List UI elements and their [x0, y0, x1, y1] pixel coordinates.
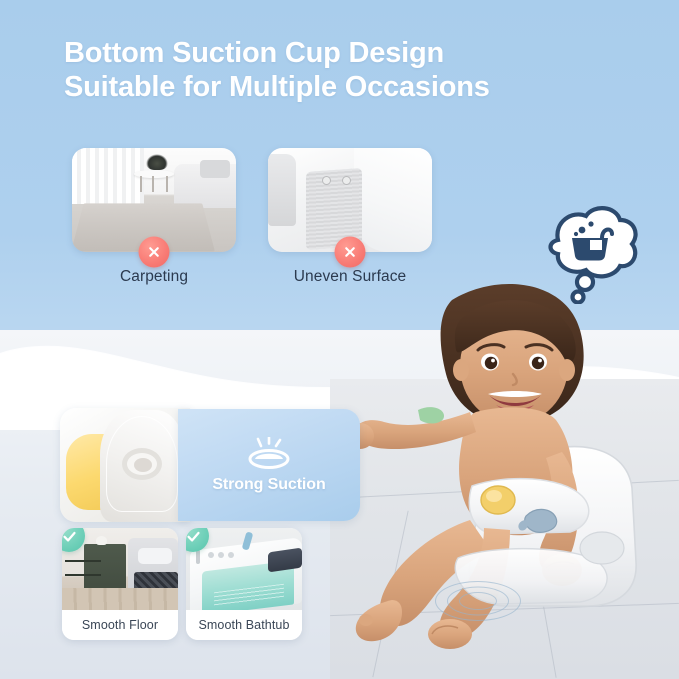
suction-ripple-rings: [430, 578, 526, 624]
smooth-floor-footer: Smooth Floor: [62, 610, 178, 640]
page-title: Bottom Suction Cup Design Suitable for M…: [64, 36, 644, 104]
suction-cup-closeup-photo: [60, 408, 190, 522]
negative-card-uneven-surface[interactable]: Uneven Surface: [268, 148, 432, 252]
positive-card-label: Smooth Floor: [82, 618, 158, 632]
infographic-canvas: Bottom Suction Cup Design Suitable for M…: [0, 0, 679, 679]
title-line-1: Bottom Suction Cup Design: [64, 36, 644, 70]
positive-card-smooth-bathtub[interactable]: Smooth Bathtub: [186, 528, 302, 640]
smooth-bathtub-footer: Smooth Bathtub: [186, 610, 302, 640]
positive-card-smooth-floor[interactable]: Smooth Floor: [62, 528, 178, 640]
close-x-icon: [335, 237, 366, 268]
negative-card-carpeting[interactable]: Carpeting: [72, 148, 236, 252]
title-line-2: Suitable for Multiple Occasions: [64, 70, 644, 104]
close-x-icon: [139, 237, 170, 268]
strong-suction-panel: Strong Suction: [178, 409, 360, 521]
positive-card-label: Smooth Bathtub: [198, 618, 289, 632]
strong-suction-label: Strong Suction: [212, 476, 325, 494]
negative-card-label: Carpeting: [72, 268, 236, 286]
suction-cup-icon: [243, 437, 295, 471]
